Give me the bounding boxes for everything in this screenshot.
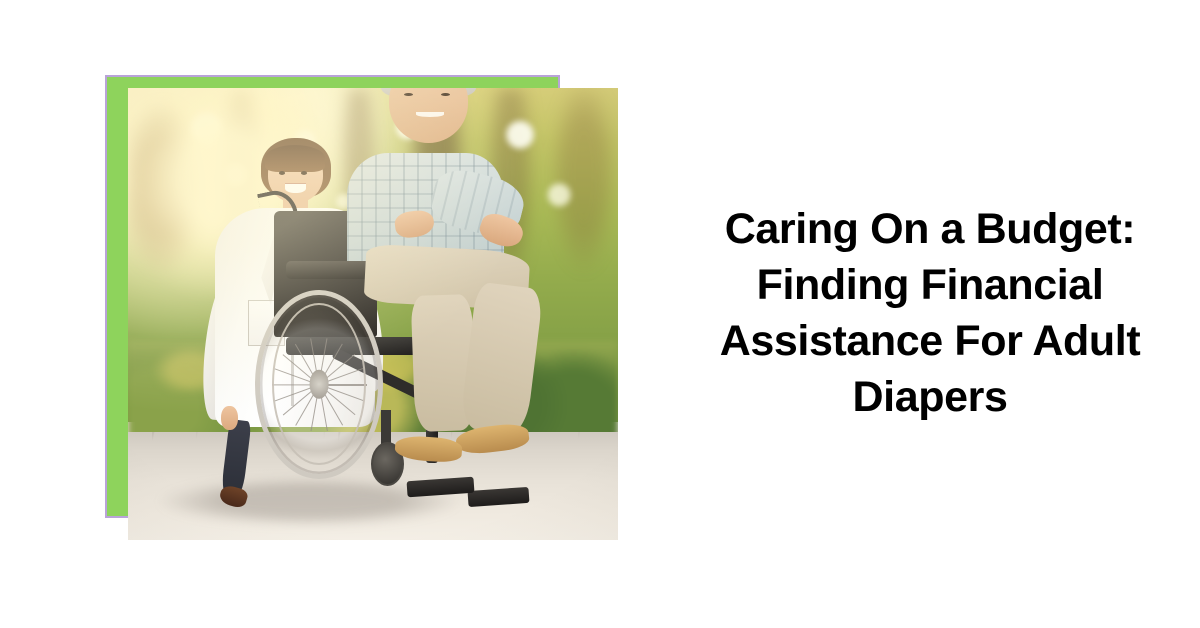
caregiver-wheelchair-photo (128, 88, 618, 540)
headline-region: Caring On a Budget: Finding Financial As… (660, 0, 1200, 628)
headline-line-4: Diapers (853, 373, 1008, 421)
wheelchair-footplate-right (468, 487, 530, 507)
caregiver-eye-right (301, 171, 307, 175)
caregiver-eye-left (279, 171, 285, 175)
headline-line-3: Assistance For Adult (720, 317, 1141, 365)
banner-canvas: Caring On a Budget: Finding Financial As… (0, 0, 1200, 628)
wheelchair-hand-rim (272, 303, 366, 466)
headline-line-1: Caring On a Budget: (725, 205, 1135, 253)
caregiver-hair-front (265, 145, 325, 171)
caregiver-hand (221, 406, 238, 431)
media-block (0, 0, 660, 628)
wheelchair-footplate-left (407, 476, 475, 496)
patient-shoe-left (394, 434, 462, 462)
headline-line-2: Finding Financial (757, 261, 1104, 309)
wheelchair-and-patient (255, 269, 559, 531)
caregiver-smile (285, 184, 307, 193)
page-title: Caring On a Budget: Finding Financial As… (720, 202, 1141, 426)
park-scene (128, 88, 618, 540)
patient-smile (416, 112, 443, 117)
